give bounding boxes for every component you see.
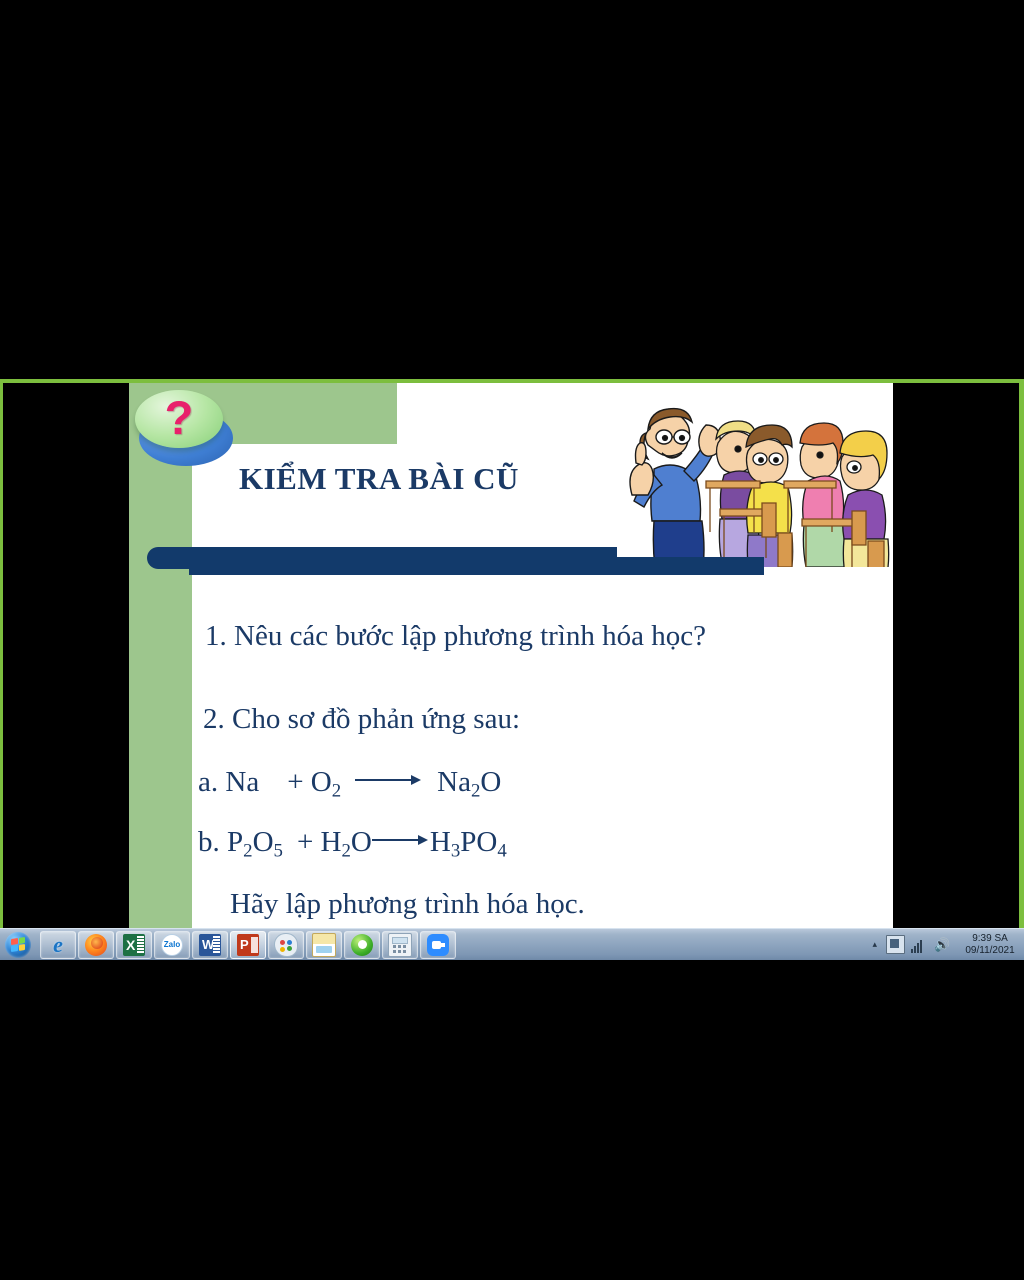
question-1: 1. Nêu các bước lập phương trình hóa học… (205, 620, 706, 653)
word-icon: W (199, 934, 221, 956)
clock[interactable]: 9:39 SA 09/11/2021 (960, 933, 1020, 957)
question-2: 2. Cho sơ đồ phản ứng sau: (203, 703, 520, 736)
taskbar-item-word[interactable]: W (192, 931, 228, 959)
taskbar-item-zalo[interactable]: Zalo (154, 931, 190, 959)
equation-b-mid: O (253, 826, 274, 858)
equation-b-product-mid: PO (460, 826, 497, 858)
clock-date: 09/11/2021 (960, 945, 1020, 957)
equation-b-reactant-2-tail: O (351, 826, 372, 858)
reaction-arrow-icon (372, 833, 430, 847)
capture-border-left (0, 379, 3, 928)
reaction-arrow-icon (355, 773, 423, 787)
taskbar-item-excel[interactable]: X (116, 931, 152, 959)
equation-b-sub-2: 5 (274, 840, 283, 861)
tray-overflow-arrow-icon[interactable]: ▴ (872, 939, 877, 950)
taskbar-item-powerpoint[interactable]: P (230, 931, 266, 959)
system-tray[interactable]: ▴ 🔊 9:39 SA 09/11/2021 (870, 930, 1024, 960)
closing-instruction: Hãy lập phương trình hóa học. (230, 888, 585, 921)
taskbar-item-media-player[interactable] (344, 931, 380, 959)
question-mark-glyph: ? (133, 388, 225, 450)
equation-b-reactant-2-sub: 2 (342, 840, 351, 861)
excel-icon: X (123, 934, 145, 956)
equation-a-reactant-label: a. Na (198, 766, 259, 798)
taskbar-item-calculator[interactable] (382, 931, 418, 959)
powerpoint-icon: P (237, 934, 259, 956)
start-button[interactable] (2, 930, 36, 960)
signal-bars-icon[interactable] (911, 936, 928, 953)
equation-a-product-tail: O (480, 766, 501, 798)
paint-palette-icon (274, 933, 298, 957)
equation-b: b. P2O5+ H2OH3PO4 (198, 826, 507, 862)
equation-a-product-sub: 2 (471, 780, 480, 801)
equation-b-reactant-2: + H (297, 826, 342, 858)
classroom-teacher-students-clipart (602, 385, 893, 567)
taskbar-item-internet-explorer[interactable]: e (40, 931, 76, 959)
title-underline-bar-right (189, 557, 764, 575)
taskbar-item-paint[interactable] (268, 931, 304, 959)
equation-a-product: Na (437, 766, 471, 798)
volume-icon[interactable]: 🔊 (934, 936, 951, 953)
powerpoint-slide[interactable]: ? KIỂM TRA BÀI CŨ (129, 383, 893, 928)
windows-flag-icon (11, 937, 25, 952)
equation-a-reactant-2-sub: 2 (332, 780, 341, 801)
zalo-icon: Zalo (161, 934, 183, 956)
photo-viewer-icon (312, 933, 336, 957)
question-mark-button-icon: ? (133, 388, 233, 466)
equation-b-product-sub-1: 3 (451, 840, 460, 861)
internet-explorer-icon: e (47, 934, 69, 956)
equation-a-reactant-2: + O (287, 766, 332, 798)
network-icon[interactable] (886, 935, 905, 954)
windows-taskbar[interactable]: e X Zalo W P ▴ (0, 928, 1024, 960)
equation-b-product: H (430, 826, 451, 858)
calculator-icon (388, 933, 412, 957)
taskbar-item-zoom[interactable] (420, 931, 456, 959)
taskbar-items[interactable]: e X Zalo W P (40, 930, 458, 960)
taskbar-item-firefox[interactable] (78, 931, 114, 959)
equation-b-sub-1: 2 (243, 840, 252, 861)
equation-b-product-sub-2: 4 (497, 840, 506, 861)
slide-title: KIỂM TRA BÀI CŨ (239, 461, 519, 497)
capture-border-right (1019, 379, 1024, 928)
taskbar-item-photo-viewer[interactable] (306, 931, 342, 959)
media-player-icon (351, 934, 373, 956)
equation-b-reactant-label: b. P (198, 826, 243, 858)
zoom-camera-icon (427, 934, 449, 956)
clock-time: 9:39 SA (960, 933, 1020, 945)
equation-a: a. Na+ O2Na2O (198, 766, 501, 802)
firefox-icon (85, 934, 107, 956)
